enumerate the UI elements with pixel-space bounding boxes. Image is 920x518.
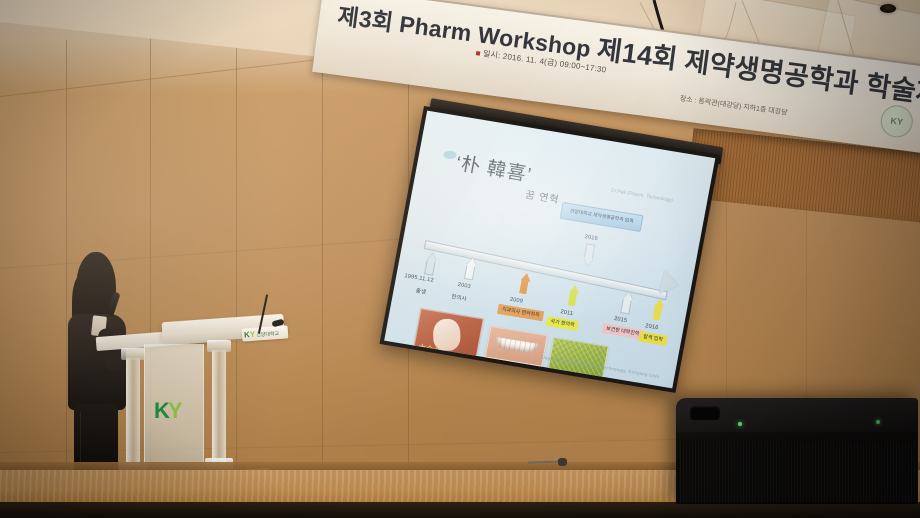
wall-lighting — [0, 0, 920, 518]
auditorium-photo: 제3회 Pharm Workshop 제14회 제약생명공학과 학술제 일시: … — [0, 0, 920, 518]
